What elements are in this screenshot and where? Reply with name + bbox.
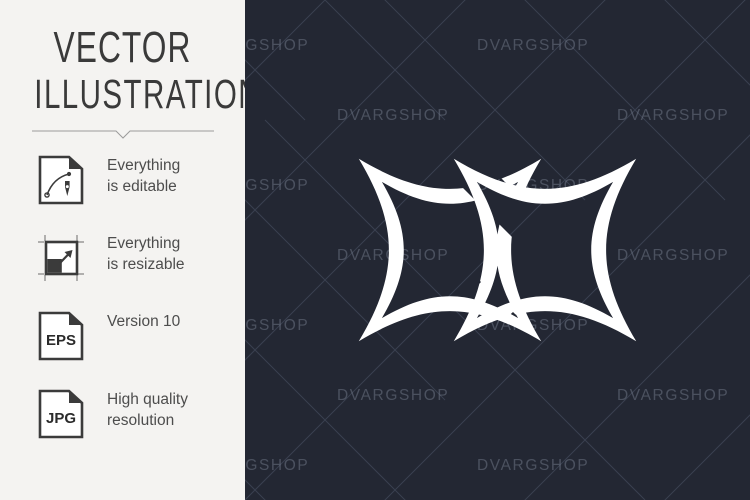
list-item-label: Everything is editable — [107, 155, 239, 197]
list-item-label-line1: High quality — [107, 389, 239, 410]
jpg-file-icon: JPG — [36, 388, 86, 440]
list-item-label-line2: is resizable — [107, 254, 239, 275]
list-item: EPS Version 10 — [0, 308, 245, 386]
list-item-label-line1: Version 10 — [107, 311, 239, 332]
list-item: JPG High quality resolution — [0, 386, 245, 464]
list-item-label-line1: Everything — [107, 155, 239, 176]
interlocking-star-diamond-logo — [245, 0, 750, 500]
eps-file-icon-text: EPS — [46, 332, 76, 349]
artwork-panel: DVARGSHOP DVARGSHOP DVARGSHOP DVARGSHOP … — [245, 0, 750, 500]
list-item-label-line2: is editable — [107, 176, 239, 197]
preview-canvas: VECTOR ILLUSTRATION — [0, 0, 750, 500]
list-item-label-line1: Everything — [107, 233, 239, 254]
list-item-label: High quality resolution — [107, 389, 239, 431]
resize-arrow-icon — [36, 232, 86, 284]
jpg-file-icon-text: JPG — [46, 410, 76, 427]
list-item: Everything is editable — [0, 152, 245, 230]
info-panel: VECTOR ILLUSTRATION — [0, 0, 245, 500]
page-subtitle: ILLUSTRATION — [34, 70, 210, 118]
page-title: VECTOR — [34, 26, 210, 70]
chevron-down-divider-icon — [32, 128, 214, 140]
list-item: Everything is resizable — [0, 230, 245, 308]
list-item-label-line2: resolution — [107, 410, 239, 431]
list-item-label: Version 10 — [107, 311, 239, 332]
title-block: VECTOR ILLUSTRATION — [0, 26, 245, 118]
eps-file-icon: EPS — [36, 310, 86, 362]
feature-list: Everything is editable — [0, 152, 245, 464]
list-item-label: Everything is resizable — [107, 233, 239, 275]
document-pen-icon — [36, 154, 86, 206]
